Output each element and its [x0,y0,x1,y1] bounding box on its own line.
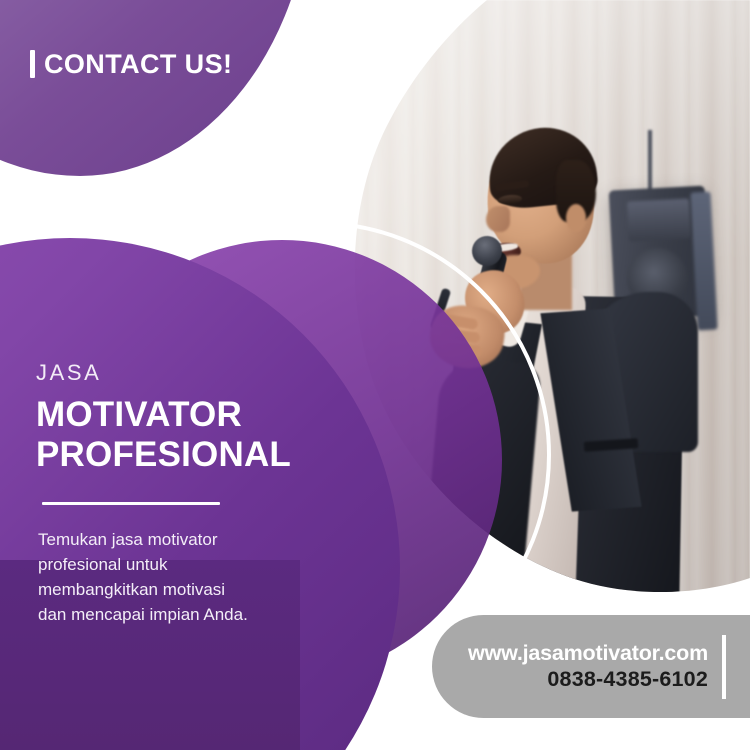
phone-label[interactable]: 0838-4385-6102 [458,667,708,693]
contact-info-bar[interactable]: www.jasamotivator.com 0838-4385-6102 [432,615,750,718]
website-label[interactable]: www.jasamotivator.com [458,641,708,667]
body-copy-line: membangkitkan motivasi [38,577,366,602]
nose [486,206,510,232]
contact-us-badge: CONTACT US! [30,50,232,78]
body-copy-line: Temukan jasa motivator [38,527,366,552]
ear [566,204,586,232]
body-copy-line: dan mencapai impian Anda. [38,602,366,627]
eyebrow-label: JASA [36,362,366,384]
top-left-purple-blob [0,0,312,176]
body-copy-line: profesional untuk [38,552,366,577]
contact-us-label: CONTACT US! [44,51,232,78]
vertical-bar-icon [30,50,35,78]
body-copy: Temukan jasa motivator profesional untuk… [38,527,366,628]
headline-block: JASA MOTIVATOR PROFESIONAL Temukan jasa … [36,362,366,627]
poster-canvas: CONTACT US! JASA MOTIVATOR PROFESIONAL T… [0,0,750,750]
title-line-2: PROFESIONAL [36,435,366,475]
contact-info-lines: www.jasamotivator.com 0838-4385-6102 [458,641,718,693]
contact-divider-bar [722,635,726,699]
headline-divider [42,502,220,505]
title-line-1: MOTIVATOR [36,395,366,435]
